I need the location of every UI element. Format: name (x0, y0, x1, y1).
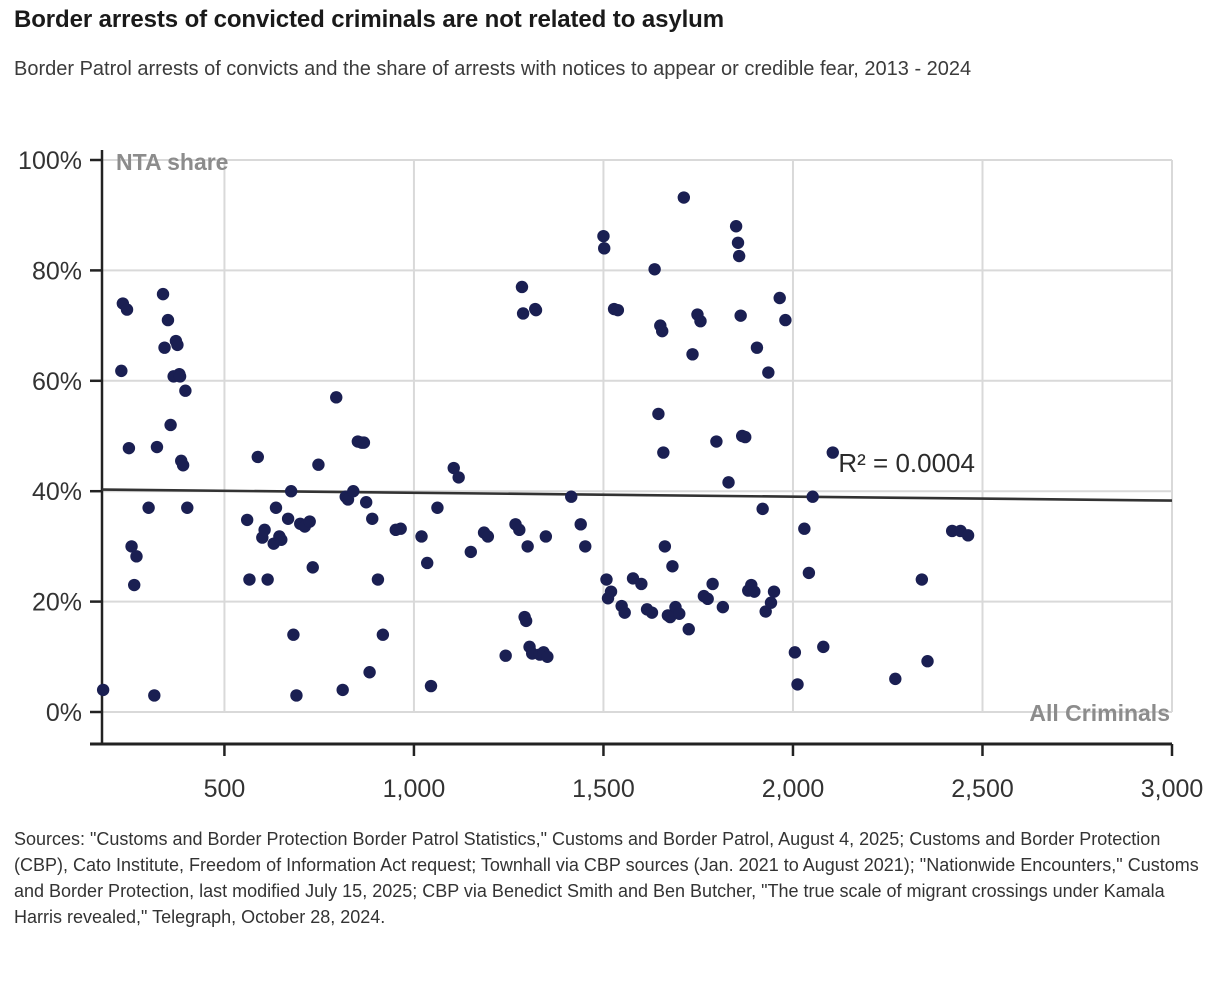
data-point (774, 292, 786, 304)
data-point (706, 578, 718, 590)
data-point (579, 540, 591, 552)
chart-page: Border arrests of convicted criminals ar… (0, 0, 1220, 988)
x-tick-label: 1,500 (572, 775, 635, 803)
x-tick-label: 1,000 (383, 775, 446, 803)
data-point (336, 684, 348, 696)
page-title: Border arrests of convicted criminals ar… (14, 6, 724, 34)
data-point (517, 307, 529, 319)
data-point (347, 485, 359, 497)
x-tick-label: 2,500 (951, 775, 1014, 803)
data-point (657, 446, 669, 458)
r-squared-annotation: R² = 0.0004 (838, 448, 975, 478)
data-point (330, 391, 342, 403)
data-point (921, 655, 933, 667)
data-point (312, 459, 324, 471)
data-point (722, 476, 734, 488)
data-point (97, 684, 109, 696)
data-point (612, 304, 624, 316)
data-point (618, 606, 630, 618)
data-point (252, 451, 264, 463)
data-point (521, 540, 533, 552)
data-point (734, 309, 746, 321)
data-point (499, 649, 511, 661)
data-point (285, 485, 297, 497)
data-point (415, 530, 427, 542)
data-point (520, 615, 532, 627)
data-point (162, 314, 174, 326)
data-point (121, 303, 133, 315)
data-point (575, 518, 587, 530)
data-point (261, 573, 273, 585)
data-point (275, 534, 287, 546)
data-point (710, 435, 722, 447)
data-point (123, 442, 135, 454)
x-tick-label: 3,000 (1141, 775, 1204, 803)
y-tick-label: 40% (32, 478, 82, 506)
data-point (652, 408, 664, 420)
page-subtitle: Border Patrol arrests of convicts and th… (14, 56, 1204, 82)
data-point (181, 502, 193, 514)
sources-note: Sources: "Customs and Border Protection … (14, 826, 1209, 930)
data-point (678, 191, 690, 203)
data-point (656, 325, 668, 337)
data-point (287, 629, 299, 641)
data-point (372, 573, 384, 585)
data-point (686, 348, 698, 360)
data-point (673, 608, 685, 620)
data-point (421, 557, 433, 569)
data-point (258, 524, 270, 536)
data-point (128, 579, 140, 591)
data-point (174, 370, 186, 382)
data-point (482, 530, 494, 542)
data-point (635, 578, 647, 590)
data-point (164, 419, 176, 431)
data-point (597, 230, 609, 242)
data-point (425, 680, 437, 692)
y-tick-label: 0% (46, 699, 82, 727)
data-point (762, 366, 774, 378)
data-point (779, 314, 791, 326)
data-point (290, 689, 302, 701)
x-tick-label: 500 (204, 775, 246, 803)
data-point (541, 651, 553, 663)
data-point (827, 446, 839, 458)
y-tick-label: 80% (32, 257, 82, 285)
data-point (241, 514, 253, 526)
data-point (151, 441, 163, 453)
data-point (962, 529, 974, 541)
x-tick-label: 2,000 (762, 775, 825, 803)
data-point (452, 471, 464, 483)
data-point (307, 561, 319, 573)
data-point (683, 623, 695, 635)
data-point (733, 250, 745, 262)
data-point (157, 288, 169, 300)
data-point (768, 585, 780, 597)
data-point (789, 646, 801, 658)
scatter-chart-svg: 0%20%40%60%80%100%5001,0001,5002,0002,50… (0, 128, 1220, 808)
data-point (730, 220, 742, 232)
data-point (598, 242, 610, 254)
data-point-group (97, 191, 974, 701)
data-point (142, 502, 154, 514)
data-point (817, 641, 829, 653)
y-tick-label: 100% (18, 147, 82, 175)
data-point (377, 629, 389, 641)
data-point (756, 503, 768, 515)
data-point (748, 585, 760, 597)
data-point (565, 491, 577, 503)
data-point (130, 550, 142, 562)
data-point (363, 666, 375, 678)
data-point (806, 491, 818, 503)
data-point (465, 546, 477, 558)
data-point (803, 567, 815, 579)
data-point (431, 502, 443, 514)
data-point (694, 315, 706, 327)
data-point (889, 673, 901, 685)
data-point (739, 431, 751, 443)
data-point (701, 593, 713, 605)
x-axis-title: All Criminals (1029, 700, 1170, 726)
data-point (600, 573, 612, 585)
data-point (717, 601, 729, 613)
data-point (530, 304, 542, 316)
y-tick-label: 60% (32, 368, 82, 396)
data-point (513, 524, 525, 536)
data-point (751, 341, 763, 353)
data-point (282, 513, 294, 525)
data-point (360, 496, 372, 508)
data-point (798, 523, 810, 535)
data-point (516, 281, 528, 293)
data-point (270, 502, 282, 514)
data-point (158, 341, 170, 353)
data-point (394, 523, 406, 535)
data-point (115, 365, 127, 377)
data-point (791, 678, 803, 690)
data-point (358, 436, 370, 448)
y-tick-label: 20% (32, 589, 82, 617)
data-point (916, 573, 928, 585)
data-point (148, 689, 160, 701)
data-point (648, 263, 660, 275)
data-point (366, 513, 378, 525)
data-point (243, 573, 255, 585)
data-point (666, 560, 678, 572)
data-point (177, 459, 189, 471)
data-point (605, 585, 617, 597)
data-point (659, 540, 671, 552)
data-point (304, 515, 316, 527)
data-point (765, 597, 777, 609)
data-point (540, 530, 552, 542)
data-point (732, 237, 744, 249)
scatter-chart: 0%20%40%60%80%100%5001,0001,5002,0002,50… (0, 128, 1220, 808)
data-point (646, 606, 658, 618)
y-axis-title: NTA share (116, 149, 228, 175)
data-point (171, 339, 183, 351)
data-point (179, 385, 191, 397)
